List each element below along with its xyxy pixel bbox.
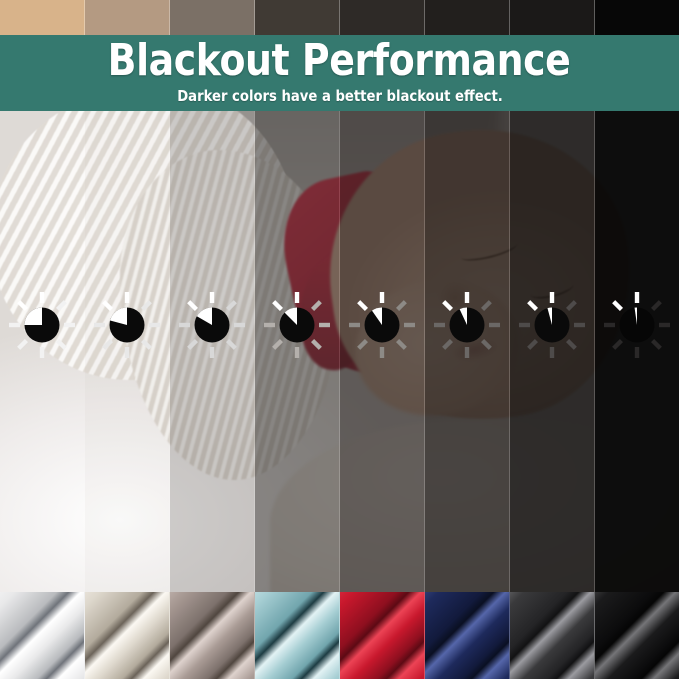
- top-strip-cell-5: [340, 0, 425, 36]
- page-title: Blackout Performance: [108, 36, 571, 86]
- product-infographic: Blackout Performance Darker colors have …: [0, 0, 679, 679]
- fabric-fold-highlight: [85, 592, 170, 679]
- top-strip-cell-6: [425, 0, 510, 36]
- fabric-swatch-black[interactable]: [595, 592, 679, 679]
- fabric-fold-highlight: [255, 592, 340, 679]
- top-strip-cell-1: [0, 0, 85, 36]
- top-color-strip: [0, 0, 679, 36]
- fabric-swatch-dark-grey[interactable]: [510, 592, 595, 679]
- fabric-swatch-white[interactable]: [0, 592, 85, 679]
- top-strip-cell-2: [85, 0, 170, 36]
- top-strip-cell-4: [255, 0, 340, 36]
- top-strip-cell-7: [510, 0, 595, 36]
- fabric-swatch-navy[interactable]: [425, 592, 510, 679]
- headline-banner: Blackout Performance Darker colors have …: [0, 35, 679, 111]
- fabric-swatch-red[interactable]: [340, 592, 425, 679]
- fabric-swatch-row: [0, 592, 679, 679]
- fabric-swatch-taupe[interactable]: [170, 592, 255, 679]
- fabric-fold-highlight: [595, 592, 679, 679]
- fabric-fold-highlight: [425, 592, 510, 679]
- fabric-swatch-aqua[interactable]: [255, 592, 340, 679]
- top-strip-cell-3: [170, 0, 255, 36]
- fabric-fold-highlight: [170, 592, 255, 679]
- fabric-fold-highlight: [340, 592, 425, 679]
- fabric-fold-highlight: [510, 592, 595, 679]
- fabric-swatch-cream[interactable]: [85, 592, 170, 679]
- top-strip-cell-8: [595, 0, 679, 36]
- page-subtitle: Darker colors have a better blackout eff…: [177, 87, 503, 105]
- fabric-fold-highlight: [0, 592, 85, 679]
